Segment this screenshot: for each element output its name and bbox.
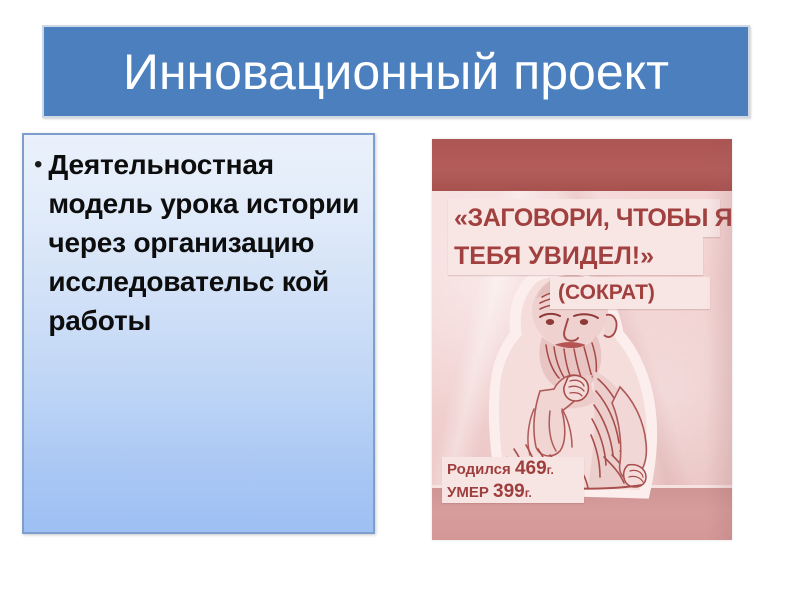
page-title: Инновационный проект (123, 47, 669, 97)
birth-year-value: 469 (515, 458, 547, 479)
slide-title-banner: Инновационный проект (42, 25, 750, 118)
birth-label: Родился (447, 461, 511, 478)
poster-top-band (432, 139, 732, 191)
slide-content-textbox: • Деятельностная модель урока истории че… (22, 133, 375, 534)
birth-year-suffix: г. (547, 463, 554, 477)
poster-quote-attribution: (СОКРАТ) (550, 277, 710, 309)
bullet-line-1: Деятельностная (48, 149, 273, 180)
socrates-poster-image: «ЗАГОВОРИ, ЧТОБЫ Я ТЕБЯ УВИДЕЛ!» (СОКРАТ… (432, 139, 732, 540)
poster-quote-line-2: ТЕБЯ УВИДЕЛ!» (448, 237, 703, 275)
poster-death-year: УМЕР 399г. (442, 480, 584, 503)
bullet-marker-icon: • (32, 145, 42, 185)
bullet-line-4: организацию (133, 227, 314, 258)
presentation-slide: Инновационный проект • Деятельностная мо… (0, 0, 800, 600)
bullet-line-5: исследовательс (48, 266, 274, 297)
poster-birth-year: Родился 469г. (442, 457, 584, 480)
bullet-line-2: модель урока (48, 188, 238, 219)
death-label: УМЕР (447, 484, 489, 501)
bullet-text: Деятельностная модель урока истории чере… (48, 145, 365, 340)
poster-quote-line-1: «ЗАГОВОРИ, ЧТОБЫ Я (448, 199, 720, 237)
list-item: • Деятельностная модель урока истории че… (32, 145, 365, 340)
death-year-suffix: г. (525, 486, 532, 500)
death-year-value: 399 (493, 481, 525, 502)
